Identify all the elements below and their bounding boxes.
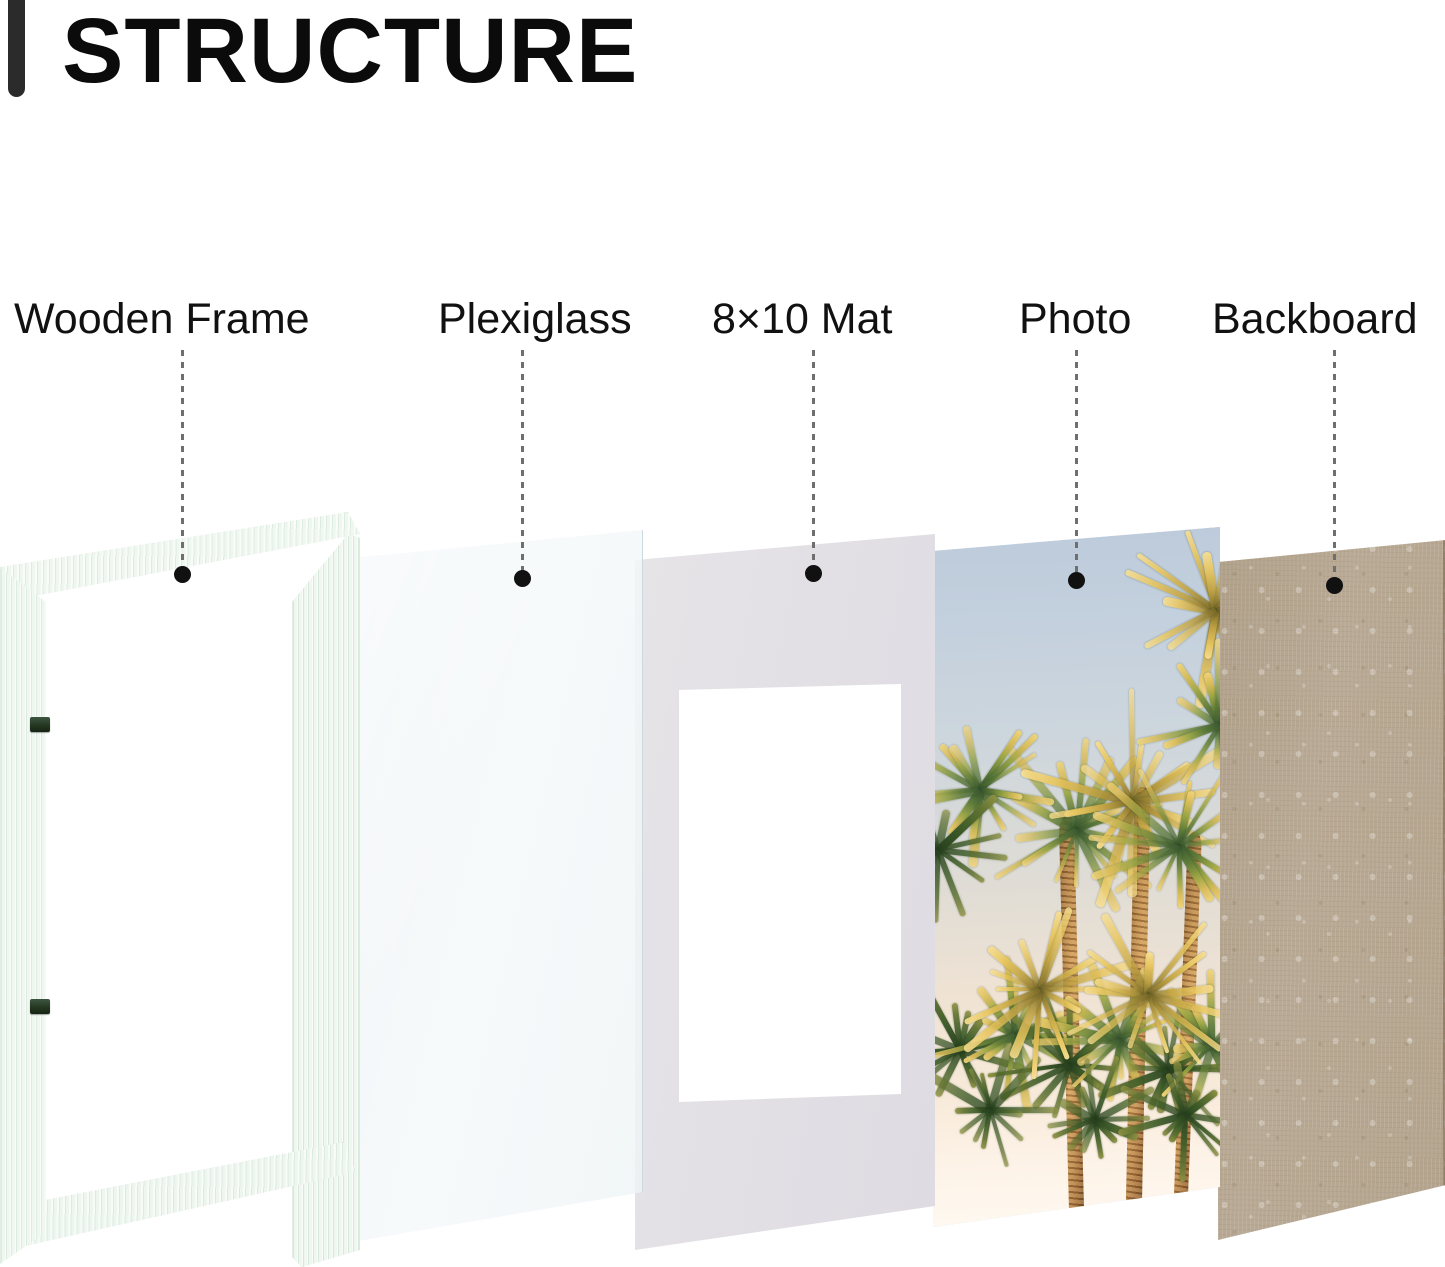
label-wooden-frame: Wooden Frame [14,298,310,341]
leader-dot-photo [1068,572,1085,589]
leader-line-backboard [1333,350,1336,585]
frame-rail-left [0,564,58,1267]
label-photo: Photo [1019,298,1131,341]
layer-photo [930,527,1220,1227]
layer-mat [635,534,935,1250]
leader-line-wooden-frame [181,350,184,574]
layer-plexiglass [353,530,643,1242]
mat-window-opening [679,684,901,1102]
layer-wooden-frame [0,512,360,1267]
leader-dot-wooden-frame [174,566,191,583]
plexiglass-sheen [353,530,643,1242]
leader-line-mat [812,350,815,573]
leader-line-plexiglass [521,350,524,578]
leader-dot-backboard [1326,577,1343,594]
layer-backboard [1218,540,1445,1240]
palm-frond [1215,638,1220,726]
label-backboard: Backboard [1212,298,1418,341]
leader-line-photo [1075,350,1078,580]
backboard-texture [1218,540,1445,1240]
leader-dot-plexiglass [514,570,531,587]
mat-window-clip [635,534,935,1250]
exploded-view-diagram [0,0,1445,1267]
photo-artwork [930,527,1220,1227]
leader-dot-mat [805,565,822,582]
frame-clip-upper [30,717,50,732]
label-mat: 8×10 Mat [712,298,892,341]
frame-clip-lower [30,999,50,1014]
label-plexiglass: Plexiglass [438,298,632,341]
